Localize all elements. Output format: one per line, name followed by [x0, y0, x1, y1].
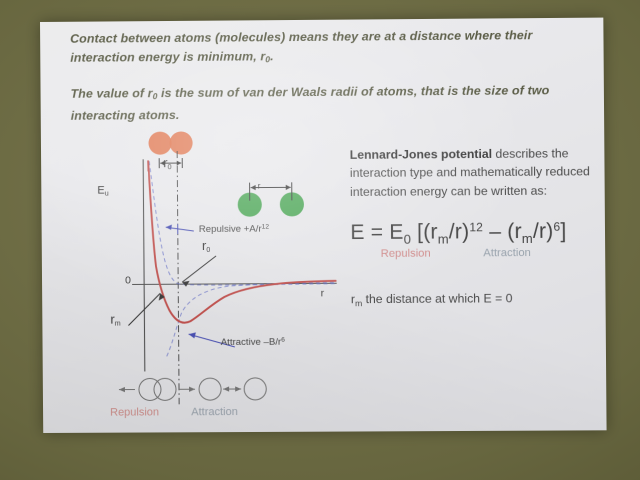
rm-minimum-label: rm	[110, 312, 120, 328]
headline-line-1: Contact between atoms (molecules) means …	[70, 26, 577, 71]
rm-annotation-arrow	[128, 293, 165, 325]
equation-close: ]	[560, 220, 566, 243]
lennard-jones-description: Lennard-Jones potential describes the in…	[350, 144, 602, 201]
rm-definition-text: the distance at which E = 0	[362, 291, 512, 306]
headline-line-2-text-a: The value of r	[71, 86, 153, 101]
x-axis-label: r	[321, 288, 324, 299]
lennard-jones-bold-term: Lennard-Jones potential	[350, 147, 492, 162]
attractive-branch-label-exp: 6	[281, 337, 285, 344]
repulsive-branch-label: Repulsive +A/r12	[199, 224, 269, 235]
equation-term-notes: Repulsion Attraction	[350, 247, 602, 267]
lennard-jones-chart: Eu 0 r r0 r0 rm r Repulsive +A/r12 Attra…	[53, 120, 346, 427]
repulsion-schematic	[119, 378, 195, 400]
r0-annotation-arrow	[182, 256, 216, 287]
equation-lhs: E = E	[350, 221, 403, 244]
attractive-branch-label-text: Attractive –B/r	[221, 337, 282, 348]
right-text-column: Lennard-Jones potential describes the in…	[350, 144, 603, 308]
equation-m1: m	[438, 232, 449, 247]
headline-line-1-punct: .	[270, 49, 274, 63]
r0-crossing-label-sub: 0	[206, 247, 210, 254]
attraction-schematic	[199, 378, 266, 400]
r0-vertical-guideline	[177, 151, 179, 404]
r0-atoms-label-sub: 0	[168, 164, 172, 171]
equation-open: [(r	[411, 221, 438, 244]
rm-minimum-label-sub: m	[115, 321, 121, 328]
attractive-branch-label: Attractive –B/r6	[221, 337, 285, 348]
y-axis-label-sub: u	[105, 191, 109, 198]
equation-over1: /r)	[449, 220, 470, 243]
separated-atom-pair	[238, 182, 304, 216]
equation-attraction-note: Attraction	[483, 247, 531, 259]
r-separation-label: r	[258, 181, 261, 191]
y-axis-label: Eu	[97, 185, 108, 198]
projected-slide: Contact between atoms (molecules) means …	[40, 18, 607, 433]
equation-repulsion-note: Repulsion	[381, 248, 431, 260]
r0-crossing-label: r0	[202, 238, 210, 254]
repulsive-annotation-arrow	[166, 224, 194, 234]
headline-line-1-text: Contact between atoms (molecules) means …	[70, 28, 532, 65]
origin-label: 0	[125, 274, 131, 286]
projection-room: Contact between atoms (molecules) means …	[0, 0, 640, 480]
repulsive-branch-label-text: Repulsive +A/r	[199, 224, 262, 235]
lennard-jones-equation: E = E0 [(rm/r)12 – (rm/r)6]	[350, 220, 602, 248]
chart-svg	[53, 120, 346, 427]
attraction-caption: Attraction	[191, 406, 238, 418]
equation-over2: /r)	[533, 220, 554, 243]
repulsion-caption: Repulsion	[110, 406, 159, 418]
equation-minus: – (r	[483, 220, 522, 243]
repulsive-branch-label-exp: 12	[262, 224, 269, 231]
lennard-jones-curve	[148, 160, 336, 323]
r0-atoms-label: r0	[163, 155, 171, 171]
slide-headline: Contact between atoms (molecules) means …	[70, 26, 578, 126]
equation-exp1: 12	[469, 220, 483, 234]
equation-m2: m	[522, 231, 533, 246]
rm-definition: rm the distance at which E = 0	[351, 291, 603, 309]
